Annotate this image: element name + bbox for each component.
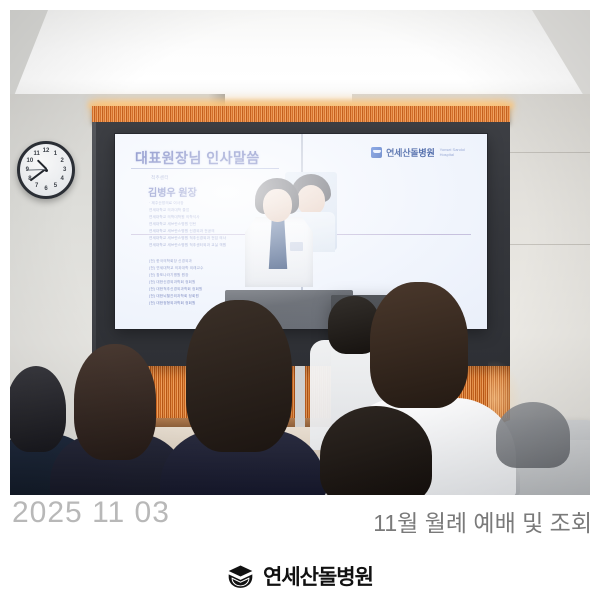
- slide-logo-name-en: Yonsei Sandol Hospital: [440, 148, 465, 157]
- clock-center-pin: [45, 169, 48, 172]
- slide-bio-line: 연세대학교 의과대학 졸업: [149, 209, 189, 213]
- portrait-face: [297, 185, 325, 215]
- footer-brand: 연세산돌병원: [0, 556, 600, 596]
- clock-number: 7: [35, 183, 38, 189]
- slide-bio-line-b: (전) 대한정형외과학회 정회원: [149, 302, 195, 306]
- speaker-face: [263, 189, 292, 222]
- clock-number: 2: [60, 158, 63, 164]
- slide-bio-line: 연세대학교 의학대학원 의학석사: [149, 216, 200, 220]
- slide-bio-line-b: (전) 대한신경외과학회 정회원: [149, 281, 195, 285]
- slide-subtitle: 척추센터: [151, 175, 169, 181]
- slide-bio-line: 연세대학교 세브란스병원 척추센터외과 교실 객원: [149, 244, 226, 248]
- ceiling-bevel-left: [10, 10, 48, 106]
- slide-logo-name-ko: 연세산돌병원: [386, 146, 434, 159]
- attendee-head-foreground: [320, 406, 432, 495]
- hospital-mark-icon: [371, 147, 382, 158]
- clock-number: 1: [54, 151, 57, 157]
- clock-number: 3: [63, 167, 66, 173]
- wall-clock: 12 1 2 3 4 5 6 7 8 9 10 11: [17, 141, 75, 199]
- screen-wall-edge: [92, 122, 96, 366]
- attendee-head: [74, 344, 156, 460]
- photo-card: 12 1 2 3 4 5 6 7 8 9 10 11 대표원장님 인사말씀: [0, 0, 600, 600]
- ceiling: [10, 10, 590, 106]
- slide-bio-line: 연세대학교 세브란스병원 척추신경외과 전임 의사: [149, 237, 226, 241]
- slide-bio-line-b: (전) 대한척추신경외과학회 정회원: [149, 288, 202, 292]
- clock-number: 11: [33, 151, 39, 157]
- clock-number: 10: [27, 158, 34, 164]
- clock-number: 12: [43, 148, 50, 154]
- slide-title-rule: [131, 168, 279, 169]
- attendee-head: [186, 300, 292, 452]
- attendee-head: [370, 282, 468, 408]
- speaker-name-badge: [290, 242, 303, 251]
- slide-bio-line-b: (전) 연세대학교 의과대학 외래교수: [149, 267, 204, 271]
- clock-number: 5: [54, 183, 57, 189]
- slide-bio-line: · 제주산방의료 이사장: [149, 202, 184, 206]
- slide-hospital-logo: 연세산돌병원 Yonsei Sandol Hospital: [371, 146, 465, 159]
- clock-minute-hand: [30, 169, 46, 182]
- slide-bio-line-b: (전) 한국의학회장 신경외과: [149, 260, 192, 264]
- slide-speaker-name: 김병우 원장: [148, 184, 197, 199]
- clock-number: 4: [60, 176, 63, 182]
- footer-brand-name: 연세산돌병원: [263, 561, 373, 591]
- slide-logo-en-line2: Hospital: [440, 152, 454, 157]
- slide-bio-line-b: (전) 대한뇌혈관외과학회 정회원: [149, 295, 199, 299]
- sandol-book-mark-icon: [227, 563, 254, 590]
- attendee-shoulder-right: [496, 402, 570, 468]
- slide-bio-line-b: (전) 참포나라기병원 원장: [149, 274, 189, 278]
- event-photo: 12 1 2 3 4 5 6 7 8 9 10 11 대표원장님 인사말씀: [10, 10, 590, 495]
- event-date: 2025 11 03: [12, 498, 170, 528]
- attendee-head: [10, 366, 66, 452]
- slide-title: 대표원장님 인사말씀: [135, 148, 260, 168]
- slide-bio-line: 연세대학교 세브란스병원 인턴: [149, 223, 196, 227]
- wood-slat-band-top: [92, 106, 510, 123]
- clock-number: 6: [44, 186, 47, 192]
- event-title: 11월 월례 예배 및 조회: [373, 512, 592, 535]
- ceiling-bevel-right: [532, 10, 590, 106]
